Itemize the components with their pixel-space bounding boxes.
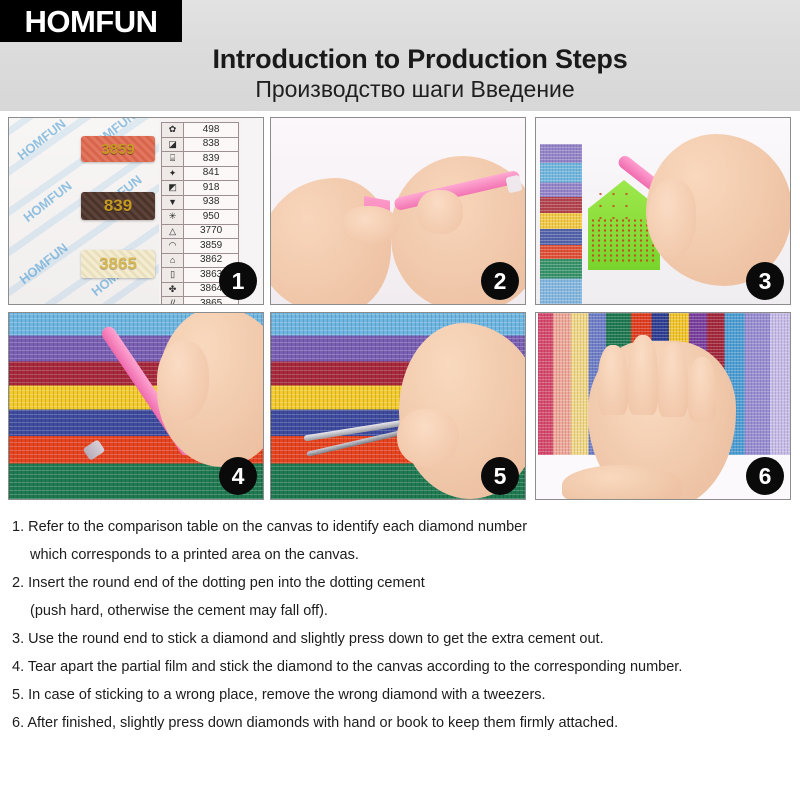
step-panel-5: 5 <box>270 312 526 500</box>
code-symbol-icon: ◩ <box>162 181 184 196</box>
step-badge-3: 3 <box>746 262 784 300</box>
left-thumb <box>343 206 399 244</box>
code-table-row: ✿498 <box>162 123 239 138</box>
diamond-packet: 3865 <box>81 250 155 278</box>
page-title-english: Introduction to Production Steps <box>0 44 800 75</box>
lower-thumb <box>562 465 682 500</box>
code-table-row: ✦841 <box>162 166 239 181</box>
code-table-row: //3865 <box>162 297 239 306</box>
code-table-row: △3770 <box>162 224 239 239</box>
code-number: 839 <box>184 152 239 167</box>
instruction-3: 3. Use the round end to stick a diamond … <box>12 625 788 653</box>
hand-knuckles <box>648 180 696 258</box>
code-symbol-icon: ✤ <box>162 282 184 297</box>
instruction-4: 4. Tear apart the partial film and stick… <box>12 653 788 681</box>
fingers <box>397 409 459 467</box>
code-symbol-icon: ▯ <box>162 268 184 283</box>
thumb <box>157 341 209 421</box>
code-table-row: ◪838 <box>162 137 239 152</box>
finger <box>598 345 628 415</box>
code-symbol-icon: ◪ <box>162 137 184 152</box>
code-number: 3770 <box>184 224 239 239</box>
code-symbol-icon: △ <box>162 224 184 239</box>
step-panel-6: 6 <box>535 312 791 500</box>
code-table-row: ▼938 <box>162 195 239 210</box>
code-table-row: ◩918 <box>162 181 239 196</box>
instruction-1-continued: which corresponds to a printed area on t… <box>12 541 788 569</box>
code-symbol-icon: ⌂ <box>162 253 184 268</box>
step-panel-3: 3 <box>535 117 791 305</box>
step-badge-1: 1 <box>219 262 257 300</box>
instruction-2: 2. Insert the round end of the dotting p… <box>12 569 788 597</box>
logo-text: HOMFUN <box>24 6 157 37</box>
step-badge-5: 5 <box>481 457 519 495</box>
code-number: 950 <box>184 210 239 225</box>
instruction-6: 6. After finished, slightly press down d… <box>12 709 788 737</box>
step-badge-2: 2 <box>481 262 519 300</box>
header-divider <box>0 111 800 113</box>
finger <box>658 343 688 417</box>
right-thumb <box>417 190 463 234</box>
code-table-row: ✳950 <box>162 210 239 225</box>
code-symbol-icon: ✿ <box>162 123 184 138</box>
diamond-packet: 839 <box>81 192 155 220</box>
packet-code-label: 3859 <box>81 136 155 162</box>
steps-image-grid: HOMFUN HOMFUN HOMFUN HOMFUN HOMFUN HOMFU… <box>8 117 792 505</box>
code-symbol-icon: // <box>162 297 184 306</box>
code-number: 918 <box>184 181 239 196</box>
film-watermark-icon: HOMFUN <box>20 178 74 225</box>
instruction-1: 1. Refer to the comparison table on the … <box>12 513 788 541</box>
film-watermark-icon: HOMFUN <box>16 240 70 287</box>
step-panel-1: HOMFUN HOMFUN HOMFUN HOMFUN HOMFUN HOMFU… <box>8 117 264 305</box>
code-symbol-icon: ✳ <box>162 210 184 225</box>
finger <box>628 335 658 415</box>
page-title-russian: Производство шаги Введение <box>0 76 800 103</box>
packet-code-label: 839 <box>81 192 155 220</box>
code-number: 938 <box>184 195 239 210</box>
code-number: 841 <box>184 166 239 181</box>
step-badge-4: 4 <box>219 457 257 495</box>
packet-code-label: 3865 <box>81 250 155 278</box>
step-panel-4: 4 <box>8 312 264 500</box>
code-symbol-icon: ✦ <box>162 166 184 181</box>
page-header: HOMFUN Introduction to Production Steps … <box>0 0 800 113</box>
code-symbol-icon: ▼ <box>162 195 184 210</box>
diamond-packet: 3859 <box>81 136 155 162</box>
code-table-row: ◠3859 <box>162 239 239 254</box>
striped-canvas-strip <box>540 144 582 304</box>
step-badge-6: 6 <box>746 457 784 495</box>
instruction-2-continued: (push hard, otherwise the cement may fal… <box>12 597 788 625</box>
film-watermark-icon: HOMFUN <box>14 117 68 163</box>
step-panel-2: 2 <box>270 117 526 305</box>
code-number: 3859 <box>184 239 239 254</box>
instruction-5: 5. In case of sticking to a wrong place,… <box>12 681 788 709</box>
finger <box>688 357 716 421</box>
code-table-row: ⌸839 <box>162 152 239 167</box>
homfun-logo: HOMFUN <box>0 0 182 42</box>
scattered-diamonds <box>594 188 634 220</box>
code-symbol-icon: ◠ <box>162 239 184 254</box>
code-symbol-icon: ⌸ <box>162 152 184 167</box>
code-number: 498 <box>184 123 239 138</box>
instructions-list: 1. Refer to the comparison table on the … <box>0 513 800 737</box>
code-number: 838 <box>184 137 239 152</box>
